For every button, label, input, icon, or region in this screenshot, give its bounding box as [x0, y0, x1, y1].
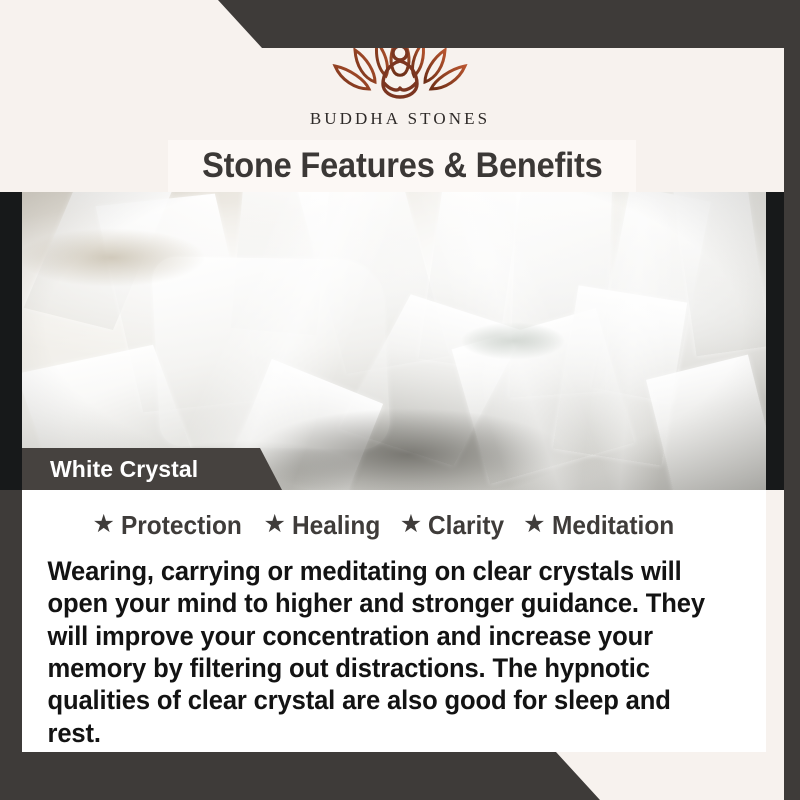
crystal-photo-band	[0, 192, 800, 490]
stone-name-label: White Crystal	[50, 456, 198, 483]
stone-info-poster: BUDDHA STONES Stone Features & Benefits …	[0, 0, 800, 800]
stone-description: Wearing, carrying or meditating on clear…	[34, 555, 715, 749]
stone-name-banner: White Crystal	[22, 448, 282, 490]
star-icon: ★	[523, 512, 545, 537]
benefit-item: ★ Meditation	[523, 510, 681, 541]
page-title: Stone Features & Benefits	[202, 146, 603, 186]
white-crystal-cluster-photo	[22, 192, 766, 490]
benefit-label: Clarity	[428, 510, 504, 541]
frame-accent-bottom	[0, 752, 800, 800]
photo-vignette	[22, 192, 766, 490]
benefits-list: ★ Protection ★ Healing ★ Clarity ★ Medit…	[34, 510, 740, 541]
frame-accent-right	[784, 0, 800, 800]
star-icon: ★	[400, 512, 422, 537]
benefit-item: ★ Protection	[92, 510, 249, 541]
frame-accent-left	[0, 490, 22, 800]
content-panel: ★ Protection ★ Healing ★ Clarity ★ Medit…	[22, 490, 766, 752]
benefit-item: ★ Clarity	[400, 510, 509, 541]
benefit-label: Meditation	[552, 510, 674, 541]
benefit-item: ★ Healing	[263, 510, 385, 541]
star-icon: ★	[263, 512, 285, 537]
page-title-plate: Stone Features & Benefits	[168, 140, 636, 192]
brand-wordmark: BUDDHA STONES	[310, 109, 490, 129]
benefit-label: Healing	[292, 510, 380, 541]
benefit-label: Protection	[121, 510, 242, 541]
star-icon: ★	[92, 512, 114, 537]
